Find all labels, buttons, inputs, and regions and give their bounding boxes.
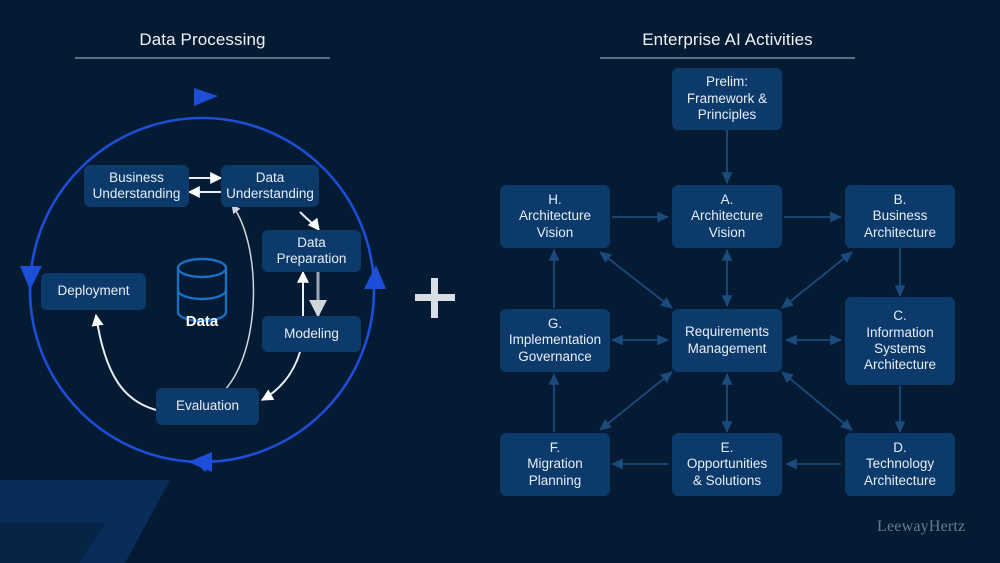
node-line: Framework & <box>687 91 767 107</box>
node-line: D. <box>864 440 936 456</box>
node-line: F. <box>527 440 583 456</box>
rm-to-d-double-arrow <box>782 372 852 430</box>
node-line: Architecture <box>864 473 936 489</box>
node-line: Principles <box>687 107 767 123</box>
node-line: Information <box>864 325 936 341</box>
node-line: Planning <box>527 473 583 489</box>
node-line: Systems <box>864 341 936 357</box>
node-line: Vision <box>691 225 763 241</box>
node-e-opportunities-solutions[interactable]: E.Opportunities& Solutions <box>672 433 782 496</box>
diagram-canvas: Data Processing Enterprise AI Activities <box>0 0 1000 563</box>
node-line: G. <box>509 316 601 332</box>
node-line: A. <box>691 192 763 208</box>
node-line: Architecture <box>864 225 936 241</box>
node-h-architecture-vision[interactable]: H.ArchitectureVision <box>500 185 610 248</box>
node-requirements-management[interactable]: RequirementsManagement <box>672 309 782 372</box>
node-d-technology-architecture[interactable]: D.TechnologyArchitecture <box>845 433 955 496</box>
node-line: E. <box>687 440 767 456</box>
node-line: Governance <box>509 349 601 365</box>
node-line: Requirements <box>685 324 769 340</box>
node-line: Architecture <box>519 208 591 224</box>
node-line: C. <box>864 308 936 324</box>
node-line: Architecture <box>864 357 936 373</box>
rm-to-h-double-arrow <box>600 252 672 308</box>
node-line: Business <box>864 208 936 224</box>
rm-to-b-double-arrow <box>782 252 852 308</box>
node-line: Technology <box>864 456 936 472</box>
node-line: Prelim: <box>687 74 767 90</box>
node-line: Architecture <box>691 208 763 224</box>
node-f-migration-planning[interactable]: F.MigrationPlanning <box>500 433 610 496</box>
leewayhertz-watermark: LeewayHertz <box>877 518 965 536</box>
node-line: H. <box>519 192 591 208</box>
node-a-architecture-vision[interactable]: A.ArchitectureVision <box>672 185 782 248</box>
node-line: Implementation <box>509 332 601 348</box>
node-line: Vision <box>519 225 591 241</box>
node-prelim-framework-principles[interactable]: Prelim:Framework &Principles <box>672 68 782 130</box>
node-line: Migration <box>527 456 583 472</box>
node-line: Opportunities <box>687 456 767 472</box>
node-g-implementation-governance[interactable]: G.ImplementationGovernance <box>500 309 610 372</box>
node-b-business-architecture[interactable]: B.BusinessArchitecture <box>845 185 955 248</box>
node-line: Management <box>685 341 769 357</box>
node-line: & Solutions <box>687 473 767 489</box>
rm-to-f-double-arrow <box>600 372 672 430</box>
node-line: B. <box>864 192 936 208</box>
node-c-information-systems-architecture[interactable]: C.InformationSystemsArchitecture <box>845 297 955 385</box>
